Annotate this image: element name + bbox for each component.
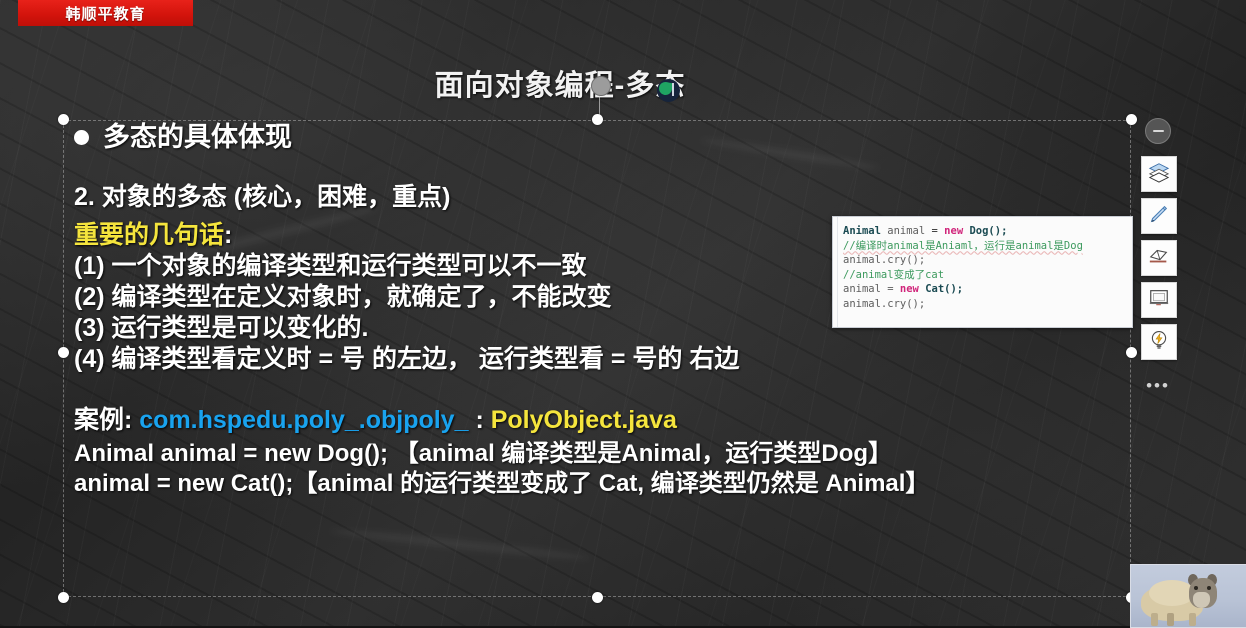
case-package: com.hspedu.poly_.objpoly_: [139, 406, 468, 434]
code-token: //编译时animal是Aniaml，运行是animal是Dog: [843, 240, 1083, 252]
tool-layers-button[interactable]: [1141, 156, 1177, 192]
case-file: PolyObject.java: [491, 406, 677, 434]
brand-label: 韩顺平教育: [65, 3, 145, 24]
code-token: animal: [881, 225, 932, 237]
minus-icon: [1153, 130, 1164, 132]
code-token: Cat();: [925, 283, 963, 295]
code-line: animal.cry();: [843, 253, 1128, 268]
key-phrase-text: 重要的几句话: [74, 221, 224, 249]
wolf-leg: [1189, 613, 1196, 626]
wolf-leg: [1167, 613, 1174, 626]
wolf-in-sheep-clothing-thumbnail[interactable]: [1130, 564, 1246, 628]
tool-whiteboard-button[interactable]: [1141, 282, 1177, 318]
collapse-toolbar-button[interactable]: [1145, 118, 1171, 144]
case-separator: :: [475, 406, 483, 434]
case-code-line-2: animal = new Cat();【animal 的运行类型变成了 Cat,…: [74, 472, 1114, 496]
code-line: animal = new Cat();: [843, 282, 1128, 297]
list-item-2: 2. 对象的多态 (核心，困难，重点): [74, 185, 1114, 210]
point-4: (4) 编译类型看定义时 = 号 的左边， 运行类型看 = 号的 右边: [74, 347, 1114, 372]
code-line: animal.cry();: [843, 297, 1128, 312]
pointer-cursor-icon: [657, 79, 680, 102]
lightbulb-icon: [1148, 329, 1170, 356]
code-snippet-card[interactable]: Animal animal = new Dog();//编译时animal是An…: [832, 216, 1133, 328]
code-token: new: [944, 225, 969, 237]
brand-banner: 韩顺平教育: [18, 0, 193, 26]
section-heading: 多态的具体体现: [103, 124, 292, 151]
side-toolbar: •••: [1141, 118, 1175, 408]
tool-pen-button[interactable]: [1141, 198, 1177, 234]
tool-eraser-button[interactable]: [1141, 240, 1177, 276]
code-line: //编译时animal是Aniaml，运行是animal是Dog: [843, 239, 1128, 254]
key-phrase-punct: :: [224, 221, 232, 249]
tool-spotlight-button[interactable]: [1141, 324, 1177, 360]
code-line: //animal变成了cat: [843, 268, 1128, 283]
layers-icon: [1148, 161, 1170, 188]
code-token: animal.cry();: [843, 298, 925, 310]
code-token: animal =: [843, 283, 900, 295]
code-token: Dog();: [969, 225, 1007, 237]
code-token: Animal: [843, 225, 881, 237]
case-label: 案例:: [74, 406, 132, 434]
case-code-line-1: Animal animal = new Dog(); 【animal 编译类型是…: [74, 442, 1114, 466]
resize-handle-top-left[interactable]: [58, 114, 69, 125]
code-token: new: [900, 283, 925, 295]
code-token: animal.cry();: [843, 254, 925, 266]
wolf-leg: [1151, 613, 1158, 626]
code-token: //animal变成了cat: [843, 269, 944, 281]
bullet-point-icon: [74, 130, 89, 145]
pen-icon: [1148, 203, 1170, 230]
page-title: 面向对象编程-多态: [0, 62, 1120, 104]
case-line: 案例: com.hspedu.poly_.objpoly_ : PolyObje…: [74, 408, 1114, 433]
resize-handle-bottom-center[interactable]: [592, 592, 603, 603]
wolf-eye: [1207, 586, 1211, 590]
eraser-icon: [1148, 245, 1170, 272]
code-token: =: [932, 225, 945, 237]
whiteboard-icon: [1148, 287, 1170, 314]
wolf-eye: [1194, 586, 1198, 590]
wolf-snout: [1193, 592, 1210, 608]
heading-row: 多态的具体体现: [74, 124, 1114, 151]
tool-more-button[interactable]: •••: [1141, 368, 1175, 402]
code-line: Animal animal = new Dog();: [843, 224, 1128, 239]
rotate-handle[interactable]: [591, 76, 611, 96]
resize-handle-middle-left[interactable]: [58, 347, 69, 358]
case-block: 案例: com.hspedu.poly_.objpoly_ : PolyObje…: [74, 408, 1114, 496]
code-snippet-body: Animal animal = new Dog();//编译时animal是An…: [843, 224, 1128, 312]
resize-handle-middle-right[interactable]: [1126, 347, 1137, 358]
resize-handle-top-right[interactable]: [1126, 114, 1137, 125]
resize-handle-bottom-left[interactable]: [58, 592, 69, 603]
